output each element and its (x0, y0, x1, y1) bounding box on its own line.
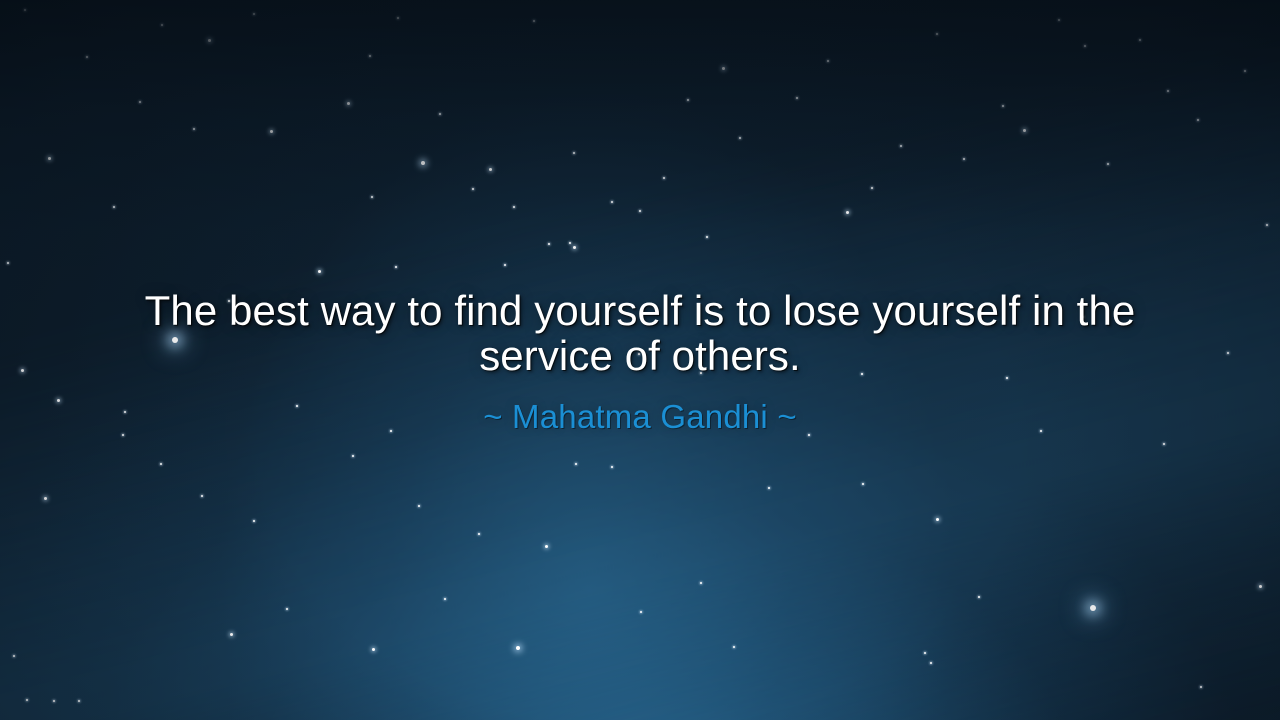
quote-text: The best way to find yourself is to lose… (90, 288, 1190, 378)
quote-block: The best way to find yourself is to lose… (0, 288, 1280, 436)
quote-author: ~ Mahatma Gandhi ~ (90, 398, 1190, 436)
quote-slide: The best way to find yourself is to lose… (0, 0, 1280, 720)
